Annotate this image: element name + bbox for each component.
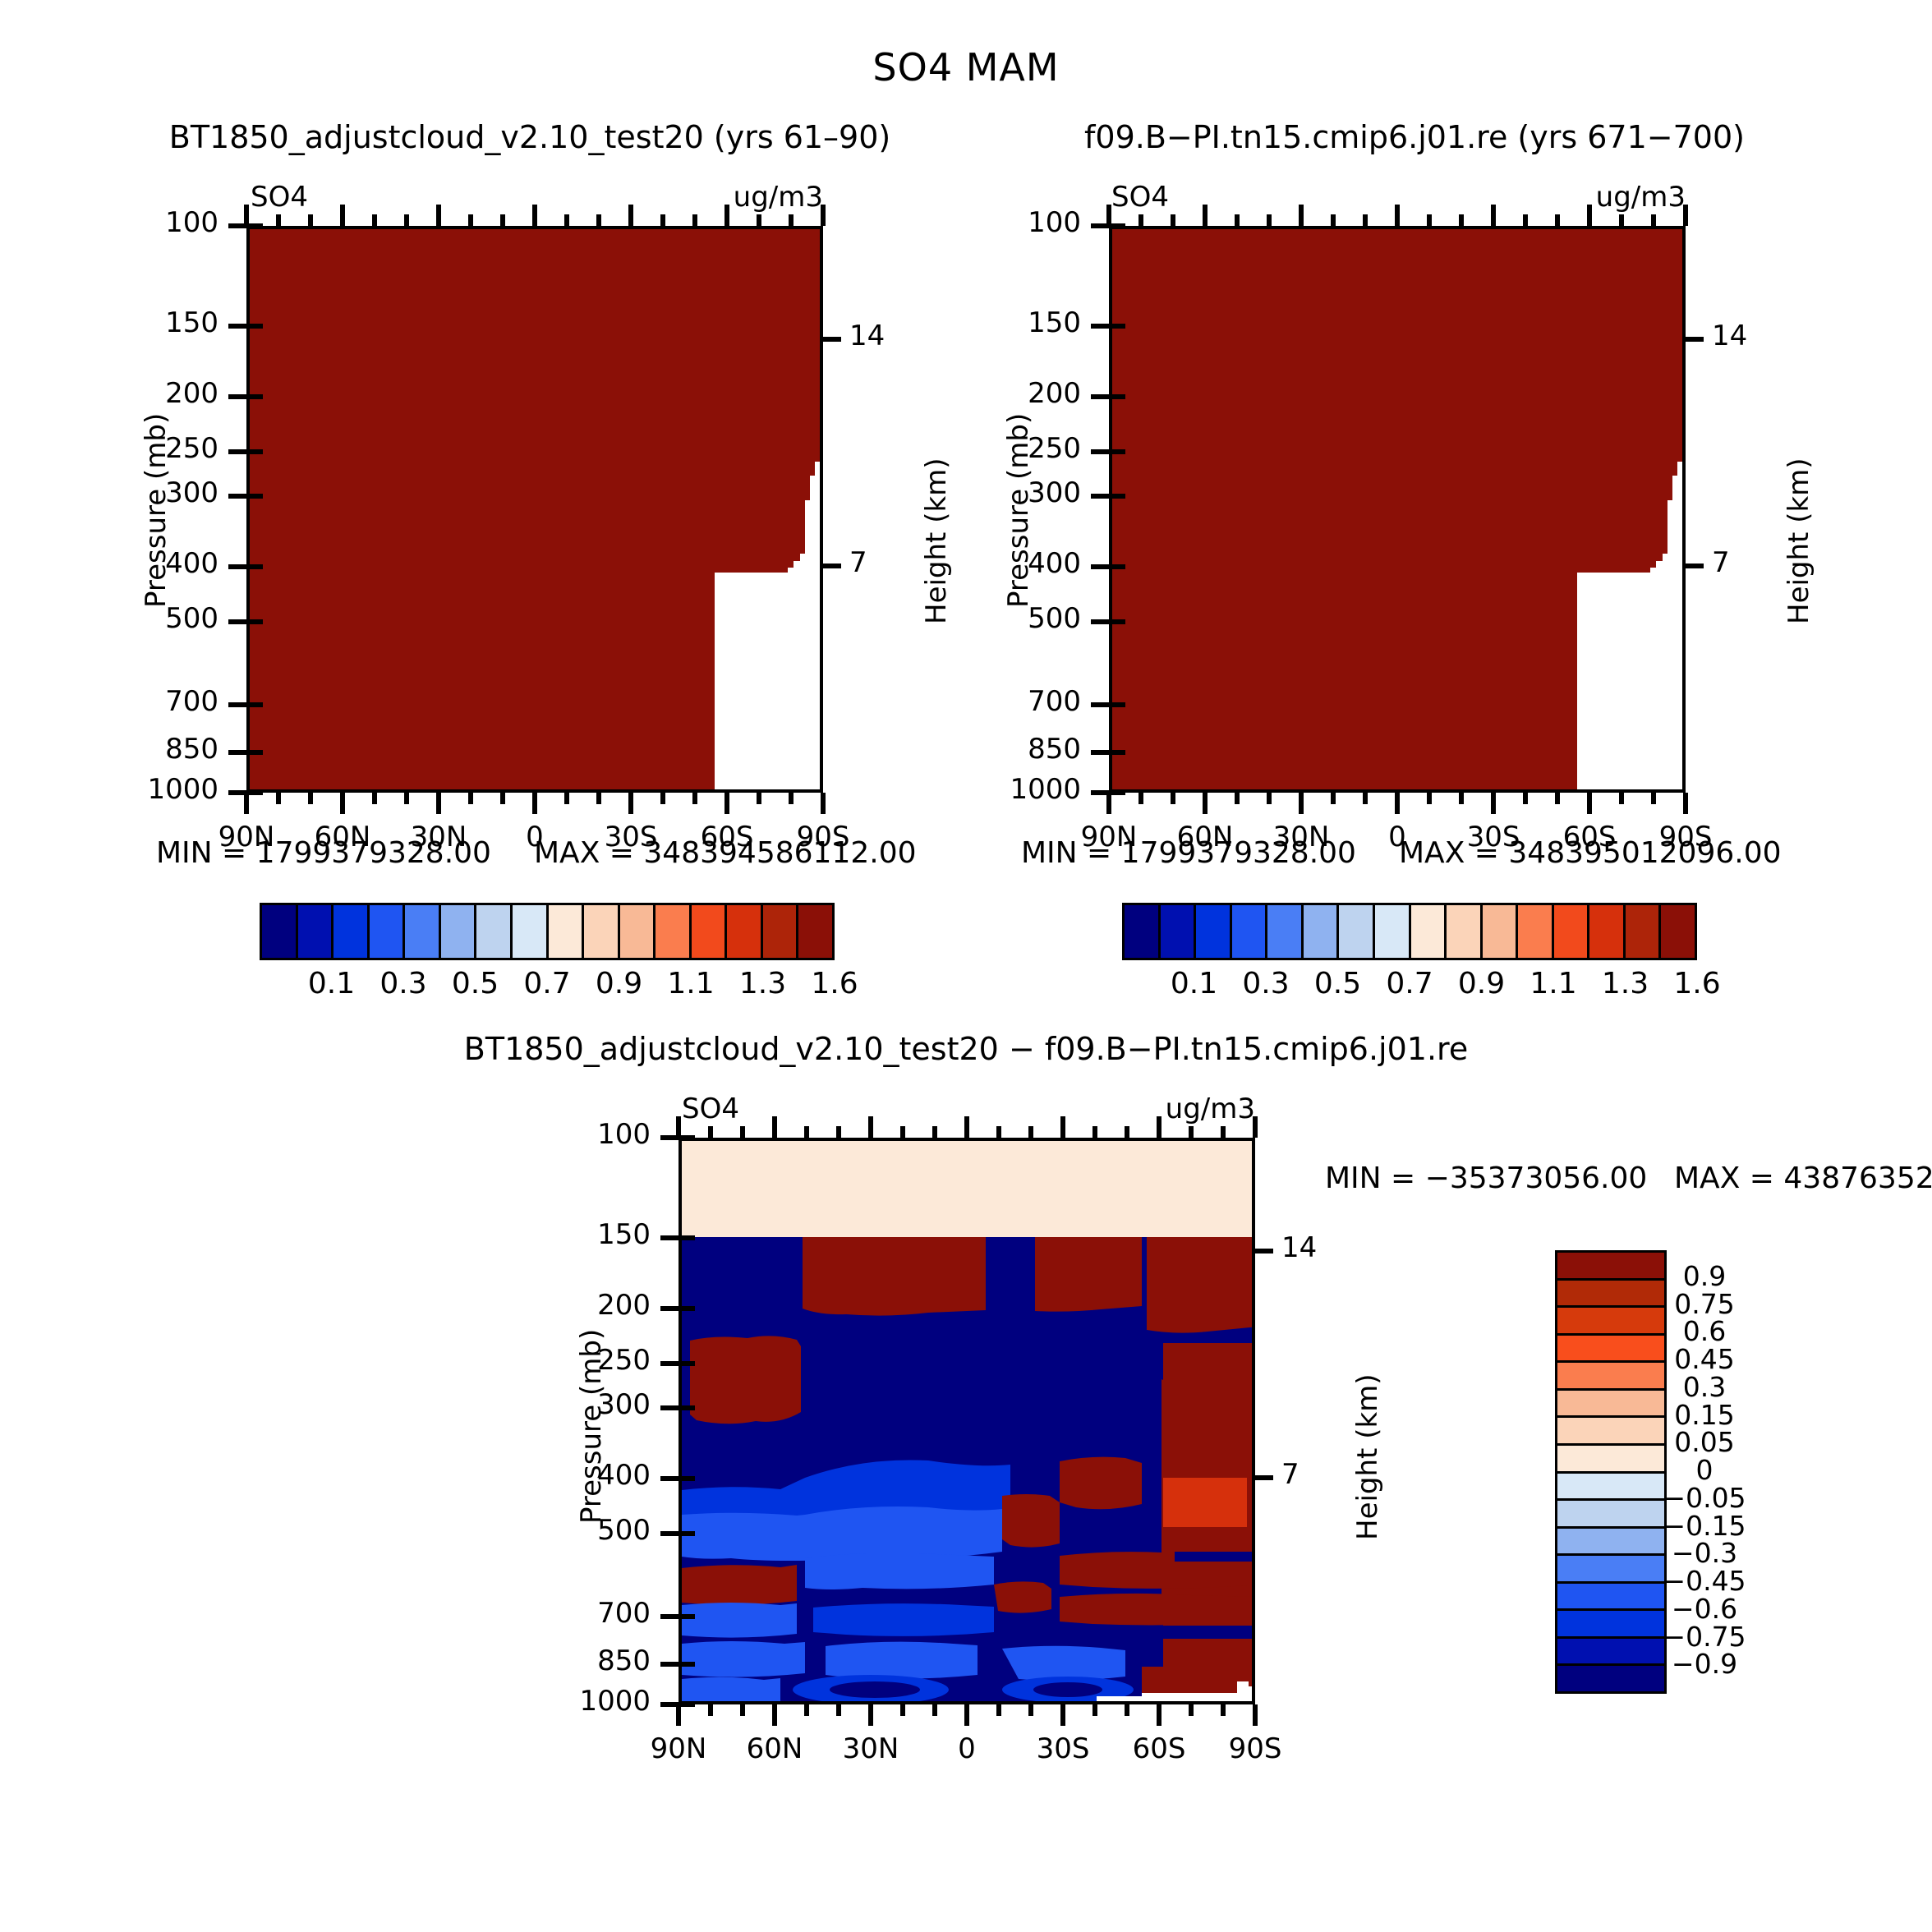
panel-left-xtick-minor [789,793,793,804]
colorbar-tick-label: 1.3 [1602,967,1649,1000]
panel-left-xtick-minor [404,793,409,804]
panel-right-ytick-inner [1109,494,1125,499]
colorbar-swatch[interactable] [1557,1418,1664,1446]
panel-left-ytick-inner [246,449,263,454]
panel-diff-xtick-major [964,1704,969,1726]
panel-left-ytick-label: 200 [165,377,218,410]
panel-diff-ytick-inner [678,1235,695,1240]
panel-right-ytick-major [1091,564,1109,569]
panel-right-xtick-top [1267,214,1272,226]
panel-diff-y2label: Height (km) [1351,1373,1384,1540]
colorbar-swatch[interactable] [1554,905,1590,958]
colorbar-tick-label: 1.1 [1529,967,1576,1000]
panel-diff-xtick-label: 60S [1133,1732,1186,1765]
panel-right-ytick-label: 300 [1028,476,1081,509]
panel-left-xtick-top [692,214,697,226]
colorbar-swatch[interactable] [1557,1556,1664,1584]
panel-left-ytick-label: 1000 [147,773,218,806]
panel-diff-ytick-label: 200 [597,1289,651,1322]
panel-right-corner-variable: SO4 [1111,181,1169,214]
panel-left-xtick-top [436,205,441,226]
panel-diff-xtick-top [868,1116,873,1138]
colorbar-swatch[interactable] [1626,905,1662,958]
panel-right-ytick-major [1091,394,1109,399]
panel-diff-xtick-minor [836,1704,841,1716]
panel-right-xtick-minor [1267,793,1272,804]
panel-right-xtick-top [1523,214,1528,226]
panel-right-xtick-top [1619,214,1624,226]
panel-diff-xtick-minor [1092,1704,1097,1716]
colorbar-tick-label: 0.7 [523,967,570,1000]
panel-right-ytick-label: 200 [1028,377,1081,410]
topography-mask-left [250,229,820,789]
panel-right-xtick-major [1587,793,1592,814]
panel-left-xtick-minor [564,793,569,804]
panel-diff-ytick-major [660,1306,678,1311]
panel-right-ytick-inner [1109,223,1125,228]
panel-diff-ytick-inner [678,1662,695,1667]
panel-left-y2tick-label: 14 [849,320,885,352]
panel-left-ytick-label: 250 [165,432,218,465]
panel-left-ytick-inner [246,223,263,228]
panel-left-xtick-top [308,214,313,226]
panel-left-xtick-top [724,205,729,226]
panel-left-ytick-major [228,702,246,707]
panel-left-xtick-major [628,793,633,814]
colorbar-swatch[interactable] [1232,905,1268,958]
colorbar-tick-label: 1.3 [739,967,786,1000]
panel-diff-xtick-top [932,1126,937,1138]
colorbar-swatch[interactable] [1557,1446,1664,1474]
panel-left-ytick-inner [246,324,263,329]
panel-diff-xtick-top [836,1126,841,1138]
panel-right-xtick-minor [1138,793,1143,804]
panel-right-xtick-minor [1523,793,1528,804]
panel-diff-xtick-major [1157,1704,1161,1726]
panel-diff-xtick-top [772,1116,777,1138]
panel-right-xtick-minor [1651,793,1656,804]
panel-diff-xtick-label: 30S [1037,1732,1090,1765]
panel-left-xtick-minor [500,793,505,804]
colorbar-tick-label: 0.5 [1314,967,1361,1000]
panel-right-ytick-major [1091,619,1109,624]
panel-left-xtick-top [628,205,633,226]
colorbar-swatch[interactable] [692,905,728,958]
panel-left-xtick-major [436,793,441,814]
panel-right-ytick-label: 250 [1028,432,1081,465]
colorbar-tick-label: 0.7 [1386,967,1433,1000]
panel-diff-xtick-top [804,1126,809,1138]
colorbar-swatch[interactable] [1557,1639,1664,1667]
panel-right-ytick-inner [1109,394,1125,399]
colorbar-tick-label: 1.1 [667,967,714,1000]
panel-left-ytick-major [228,750,246,755]
panel-left-ytick-inner [246,790,263,795]
panel-diff-ytick-major [660,1476,678,1481]
plot-area-diff [678,1138,1255,1704]
panel-left-xtick-major [532,793,537,814]
colorbar-swatch[interactable] [298,905,334,958]
colorbar-tick-label: 0.9 [1458,967,1505,1000]
panel-right-xtick-minor [1331,793,1336,804]
panel-left-corner-units: ug/m3 [734,181,823,214]
panel-diff-ytick-major [660,1662,678,1667]
panel-left-ytick-major [228,494,246,499]
panel-diff-corner-units: ug/m3 [1166,1092,1255,1125]
panel-left-y2tick [823,563,841,568]
plot-area-left [246,226,823,793]
panel-right-xtick-top [1683,205,1688,226]
colorbar-left[interactable] [260,903,835,960]
colorbar-swatch[interactable] [620,905,656,958]
panel-diff-ytick-inner [678,1361,695,1366]
contour-field-diff [682,1141,1252,1701]
panel-right-max: MAX = 348395012096.00 [1399,836,1782,870]
panel-left-xtick-top [564,214,569,226]
panel-diff-ytick-label: 100 [597,1118,651,1151]
panel-left-xtick-minor [596,793,601,804]
colorbar-tick-label: 0.9 [596,967,642,1000]
panel-diff-xtick-minor [1125,1704,1129,1716]
panel-diff-ytick-major [660,1235,678,1240]
colorbar-swatch[interactable] [1375,905,1411,958]
panel-diff-ytick-major [660,1405,678,1410]
panel-left-xtick-major [724,793,729,814]
panel-right-ytick-label: 150 [1028,306,1081,339]
colorbar-swatch[interactable] [1557,1584,1664,1612]
panel-diff-xtick-top [964,1116,969,1138]
panel-diff-xtick-top [1028,1126,1033,1138]
panel-left-xtick-minor [468,793,473,804]
panel-right-ytick-label: 100 [1028,206,1081,239]
panel-right-ytick-label: 1000 [1010,773,1081,806]
colorbar-swatch[interactable] [1557,1474,1664,1502]
panel-right-y2tick-label: 7 [1712,546,1730,579]
panel-diff-xtick-minor [996,1704,1001,1716]
panel-left-ytick-major [228,564,246,569]
panel-diff-xtick-minor [932,1704,937,1716]
panel-left-xtick-top [244,205,249,226]
panel-left-xtick-top [468,214,473,226]
panel-right-xtick-major [1299,793,1304,814]
panel-left-ytick-inner [246,619,263,624]
panel-diff-xtick-major [1253,1704,1258,1726]
panel-right-xtick-top [1203,205,1207,226]
panel-diff-xtick-top [1221,1126,1226,1138]
panel-diff-ytick-label: 150 [597,1218,651,1251]
panel-left-xtick-top [276,214,281,226]
colorbar-tick-label: 1.6 [811,967,858,1000]
panel-diff-ytick-label: 700 [597,1597,651,1630]
panel-left-xtick-top [757,214,761,226]
panel-right-ytick-label: 400 [1028,547,1081,580]
panel-right-ytick-label: 700 [1028,685,1081,718]
panel-right-y2tick [1686,337,1704,342]
colorbar-tick-label: 0.3 [1242,967,1289,1000]
panel-diff-xtick-top [676,1116,681,1138]
panel-left-min: MIN = 1799379328.00 [156,836,491,870]
colorbar-swatch[interactable] [333,905,370,958]
colorbar-swatch[interactable] [370,905,406,958]
plot-area-right [1109,226,1686,793]
panel-right-ytick-inner [1109,564,1125,569]
colorbar-swatch[interactable] [1589,905,1626,958]
panel-diff-xtick-major [868,1704,873,1726]
panel-left-xtick-minor [757,793,761,804]
panel-right-ytick-label: 850 [1028,733,1081,766]
panel-left-corner-variable: SO4 [251,181,308,214]
panel-diff-xtick-top [1092,1126,1097,1138]
colorbar-swatch[interactable] [1411,905,1447,958]
panel-right-xtick-minor [1427,793,1432,804]
panel-left-ytick-label: 100 [165,206,218,239]
panel-diff-xtick-major [676,1704,681,1726]
panel-left-ytick-major [228,394,246,399]
colorbar-swatch[interactable] [1557,1308,1664,1336]
panel-diff-xtick-top [1253,1116,1258,1138]
panel-title-left: BT1850_adjustcloud_v2.10_test20 (yrs 61–… [169,119,891,155]
panel-left-ytick-label: 400 [165,547,218,580]
panel-left-ytick-inner [246,564,263,569]
panel-left-ytick-major [228,449,246,454]
panel-left-ytick-major [228,619,246,624]
colorbar-diff-tick-label: −0.9 [1672,1648,1737,1680]
panel-right-xtick-top [1395,205,1400,226]
panel-left-ytick-label: 300 [165,476,218,509]
panel-right-xtick-top [1427,214,1432,226]
panel-left-max: MAX = 348394586112.00 [534,836,917,870]
panel-left-xtick-top [532,205,537,226]
panel-left-ytick-label: 500 [165,602,218,635]
panel-right-xtick-top [1235,214,1240,226]
panel-right-corner-units: ug/m3 [1596,181,1686,214]
panel-left-ytick-label: 700 [165,685,218,718]
panel-left-xtick-top [596,214,601,226]
panel-right-xtick-minor [1171,793,1175,804]
colorbar-swatch[interactable] [262,905,298,958]
panel-right-xtick-major [1106,793,1111,814]
panel-diff-xtick-minor [740,1704,745,1716]
panel-left-xtick-minor [276,793,281,804]
colorbar-swatch[interactable] [1161,905,1197,958]
colorbar-tick-label: 1.6 [1673,967,1720,1000]
panel-left-xtick-top [372,214,377,226]
panel-right-ytick-inner [1109,619,1125,624]
panel-diff-ytick-inner [678,1405,695,1410]
colorbar-tick-label: 0.1 [1171,967,1217,1000]
colorbar-swatch[interactable] [584,905,620,958]
panel-diff-xtick-minor [708,1704,713,1716]
panel-left-ytick-label: 850 [165,733,218,766]
panel-right-xtick-minor [1459,793,1464,804]
panel-diff-ytick-inner [678,1531,695,1536]
colorbar-swatch[interactable] [763,905,799,958]
panel-diff-ytick-inner [678,1306,695,1311]
panel-right-xtick-minor [1619,793,1624,804]
panel-diff-ytick-label: 1000 [579,1685,651,1718]
colorbar-tick-label: 0.1 [308,967,355,1000]
panel-right-xtick-top [1138,214,1143,226]
panel-right-min: MIN = 1799379328.00 [1021,836,1356,870]
panel-diff-ytick-major [660,1361,678,1366]
panel-right-xtick-minor [1235,793,1240,804]
panel-right-xtick-minor [1363,793,1368,804]
panel-left-ytick-inner [246,494,263,499]
panel-left-ytick-label: 150 [165,306,218,339]
panel-diff-xtick-label: 0 [958,1732,976,1765]
panel-left-ytick-inner [246,394,263,399]
panel-diff-y2tick [1255,1475,1273,1480]
colorbar-swatch[interactable] [1557,1611,1664,1639]
panel-diff-y2tick-label: 14 [1281,1231,1317,1264]
panel-right-xtick-major [1491,793,1496,814]
panel-diff-y2tick [1255,1249,1273,1253]
panel-right-ytick-major [1091,494,1109,499]
panel-diff-y2tick-label: 7 [1281,1458,1299,1491]
panel-diff-ytick-label: 300 [597,1388,651,1421]
panel-diff-ytick-major [660,1614,678,1619]
colorbar-swatch[interactable] [1557,1253,1664,1281]
panel-right-xtick-major [1395,793,1400,814]
colorbar-tick-label: 0.5 [452,967,499,1000]
panel-diff-xtick-minor [1028,1704,1033,1716]
panel-right-xtick-major [1203,793,1207,814]
panel-left-xtick-minor [372,793,377,804]
panel-right-y2tick-label: 14 [1712,320,1747,352]
panel-diff-xtick-top [900,1126,905,1138]
panel-diff-xtick-label: 60N [747,1732,803,1765]
panel-right-xtick-top [1331,214,1336,226]
panel-left-ytick-inner [246,750,263,755]
panel-left-xtick-minor [308,793,313,804]
panel-right-xtick-top [1171,214,1175,226]
colorbar-tick-label: 0.3 [379,967,426,1000]
colorbar-swatch[interactable] [1557,1529,1664,1557]
panel-diff-xtick-minor [900,1704,905,1716]
colorbar-swatch[interactable] [1661,905,1695,958]
panel-diff-xtick-top [1157,1116,1161,1138]
panel-left-xtick-minor [660,793,665,804]
panel-left-xtick-top [404,214,409,226]
panel-left-y2label: Height (km) [920,458,953,624]
colorbar-swatch[interactable] [476,905,513,958]
panel-diff-ytick-label: 850 [597,1644,651,1677]
colorbar-swatch[interactable] [1557,1666,1664,1691]
colorbar-diff[interactable] [1555,1250,1667,1694]
panel-right-ytick-inner [1109,449,1125,454]
colorbar-swatch[interactable] [1483,905,1519,958]
colorbar-swatch[interactable] [405,905,441,958]
panel-right-y2tick [1686,563,1704,568]
colorbar-swatch[interactable] [1304,905,1340,958]
panel-diff-xtick-label: 90N [651,1732,707,1765]
panel-diff-xtick-minor [804,1704,809,1716]
colorbar-swatch[interactable] [1557,1336,1664,1364]
colorbar-swatch[interactable] [513,905,549,958]
colorbar-swatch[interactable] [798,905,832,958]
colorbar-swatch[interactable] [1447,905,1483,958]
colorbar-swatch[interactable] [1267,905,1304,958]
panel-left-xtick-top [340,205,345,226]
panel-diff-ytick-label: 250 [597,1344,651,1377]
panel-right-ytick-major [1091,449,1109,454]
panel-diff-ytick-label: 500 [597,1514,651,1547]
panel-left-xtick-top [500,214,505,226]
panel-left-ytick-inner [246,702,263,707]
panel-left-y2tick [823,337,841,342]
colorbar-swatch[interactable] [1339,905,1375,958]
colorbar-swatch[interactable] [441,905,477,958]
panel-left-y2tick-label: 7 [849,546,867,579]
figure-title: SO4 MAM [872,45,1059,90]
panel-right-xtick-top [1587,205,1592,226]
panel-diff-ytick-inner [678,1476,695,1481]
colorbar-swatch[interactable] [549,905,585,958]
colorbar-swatch[interactable] [1125,905,1161,958]
topography-mask-right [1112,229,1682,789]
panel-diff-xtick-minor [1189,1704,1194,1716]
panel-left-xtick-major [821,793,826,814]
panel-right-xtick-top [1491,205,1496,226]
panel-diff-ytick-inner [678,1614,695,1619]
panel-diff-xtick-top [1189,1126,1194,1138]
panel-diff-xtick-major [1060,1704,1065,1726]
panel-left-xtick-minor [692,793,697,804]
panel-right-ytick-major [1091,324,1109,329]
panel-left-xtick-top [660,214,665,226]
panel-title-right: f09.B−PI.tn15.cmip6.j01.re (yrs 671−700) [1084,119,1745,155]
panel-left-ytick-major [228,324,246,329]
panel-diff-ytick-label: 400 [597,1459,651,1492]
colorbar-swatch[interactable] [727,905,763,958]
panel-right-ytick-inner [1109,750,1125,755]
panel-diff-xtick-major [772,1704,777,1726]
colorbar-swatch[interactable] [655,905,692,958]
panel-diff-corner-variable: SO4 [682,1092,739,1125]
panel-right-xtick-minor [1555,793,1560,804]
panel-right-xtick-major [1683,793,1688,814]
panel-diff-xtick-top [1125,1126,1129,1138]
panel-diff-ytick-inner [678,1702,695,1707]
colorbar-swatch[interactable] [1557,1281,1664,1309]
panel-right-xtick-top [1106,205,1111,226]
panel-left-xtick-top [789,214,793,226]
colorbar-right[interactable] [1122,903,1697,960]
panel-left-xtick-major [244,793,249,814]
panel-right-xtick-top [1651,214,1656,226]
panel-diff-min: MIN = −35373056.00 [1325,1161,1647,1195]
panel-diff-xtick-label: 30N [843,1732,899,1765]
panel-right-xtick-top [1459,214,1464,226]
colorbar-swatch[interactable] [1518,905,1554,958]
panel-right-xtick-top [1299,205,1304,226]
panel-left-xtick-top [821,205,826,226]
panel-right-ytick-inner [1109,790,1125,795]
colorbar-swatch[interactable] [1557,1501,1664,1529]
colorbar-swatch[interactable] [1557,1363,1664,1391]
panel-diff-xtick-top [708,1126,713,1138]
panel-diff-xtick-top [740,1126,745,1138]
panel-diff-max: MAX = 43876352. [1674,1161,1932,1195]
panel-right-xtick-top [1555,214,1560,226]
colorbar-swatch[interactable] [1196,905,1232,958]
panel-right-xtick-top [1363,214,1368,226]
panel-diff-xtick-top [996,1126,1001,1138]
panel-diff-xtick-minor [1221,1704,1226,1716]
colorbar-swatch[interactable] [1557,1391,1664,1419]
panel-left-xtick-major [340,793,345,814]
panel-right-ytick-major [1091,702,1109,707]
